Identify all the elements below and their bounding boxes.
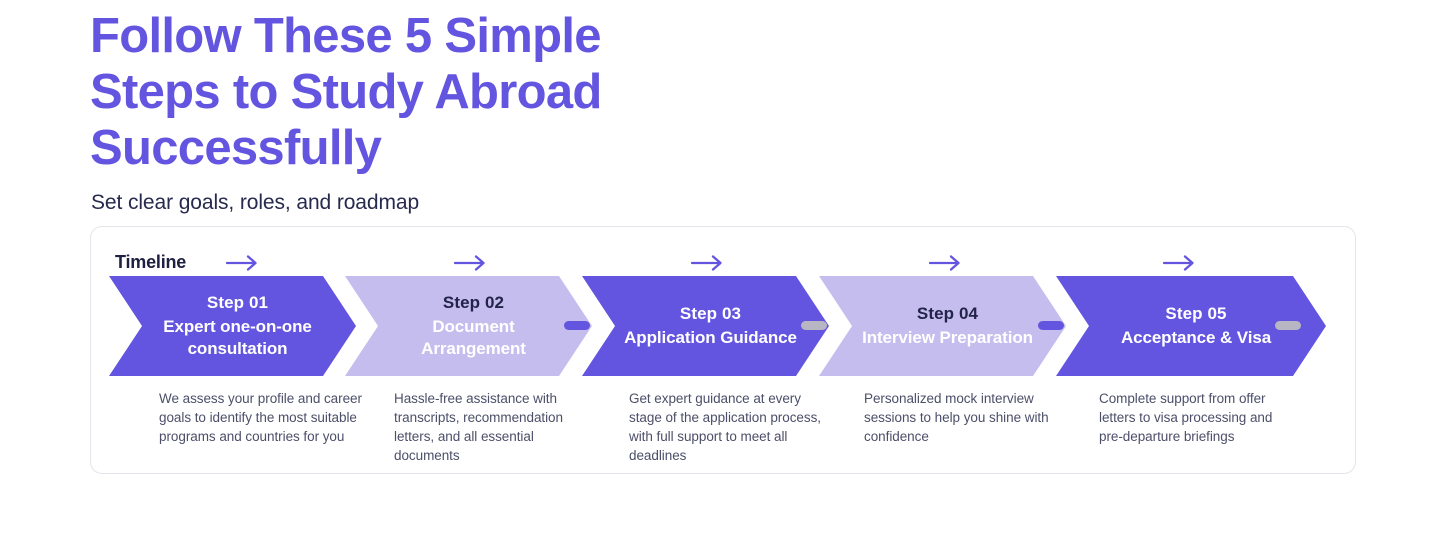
step-title: Acceptance & Visa bbox=[1121, 327, 1271, 349]
step-connector-bar bbox=[564, 321, 590, 330]
step-connector-bar bbox=[1038, 321, 1064, 330]
step-connector-bar bbox=[801, 321, 827, 330]
timeline-header-row: Timeline bbox=[91, 227, 1357, 277]
step-connector-bar bbox=[1275, 321, 1301, 330]
timeline-label: Timeline bbox=[115, 252, 186, 273]
infographic-page: Follow These 5 Simple Steps to Study Abr… bbox=[0, 0, 1440, 540]
timeline-step-3[interactable]: Step 03 Application Guidance bbox=[582, 276, 829, 376]
page-title-line-2: Steps to Study Abroad bbox=[90, 64, 710, 120]
step-title: Document Arrangement bbox=[386, 316, 561, 360]
step-number: Step 04 bbox=[917, 303, 978, 325]
step-description: Personalized mock interview sessions to … bbox=[864, 389, 1064, 446]
step-number: Step 01 bbox=[207, 292, 268, 314]
timeline-chevron-strip: Step 01 Expert one-on-one consultation S… bbox=[91, 276, 1357, 376]
arrow-right-icon bbox=[691, 254, 725, 272]
step-description: Hassle-free assistance with transcripts,… bbox=[394, 389, 599, 465]
step-description: Complete support from offer letters to v… bbox=[1099, 389, 1299, 446]
arrow-right-icon bbox=[1163, 254, 1197, 272]
step-description: We assess your profile and career goals … bbox=[159, 389, 364, 446]
timeline-card: Timeline Step 01 Expert one-on-one consu… bbox=[90, 226, 1356, 474]
step-number: Step 03 bbox=[680, 303, 741, 325]
timeline-step-1[interactable]: Step 01 Expert one-on-one consultation bbox=[109, 276, 356, 376]
step-title: Interview Preparation bbox=[862, 327, 1033, 349]
timeline-step-2[interactable]: Step 02 Document Arrangement bbox=[345, 276, 592, 376]
step-connector-bar bbox=[327, 321, 353, 330]
step-number: Step 02 bbox=[443, 292, 504, 314]
arrow-right-icon bbox=[226, 254, 260, 272]
step-title: Application Guidance bbox=[624, 327, 797, 349]
step-description: Get expert guidance at every stage of th… bbox=[629, 389, 824, 465]
page-title: Follow These 5 Simple Steps to Study Abr… bbox=[90, 8, 710, 176]
page-subtitle: Set clear goals, roles, and roadmap bbox=[91, 190, 419, 216]
arrow-right-icon bbox=[454, 254, 488, 272]
arrow-right-icon bbox=[929, 254, 963, 272]
page-title-line-1: Follow These 5 Simple bbox=[90, 8, 710, 64]
page-title-line-3: Successfully bbox=[90, 120, 710, 176]
timeline-step-4[interactable]: Step 04 Interview Preparation bbox=[819, 276, 1066, 376]
step-title: Expert one-on-one consultation bbox=[150, 316, 325, 360]
step-number: Step 05 bbox=[1165, 303, 1226, 325]
timeline-descriptions-row: We assess your profile and career goals … bbox=[91, 389, 1357, 475]
